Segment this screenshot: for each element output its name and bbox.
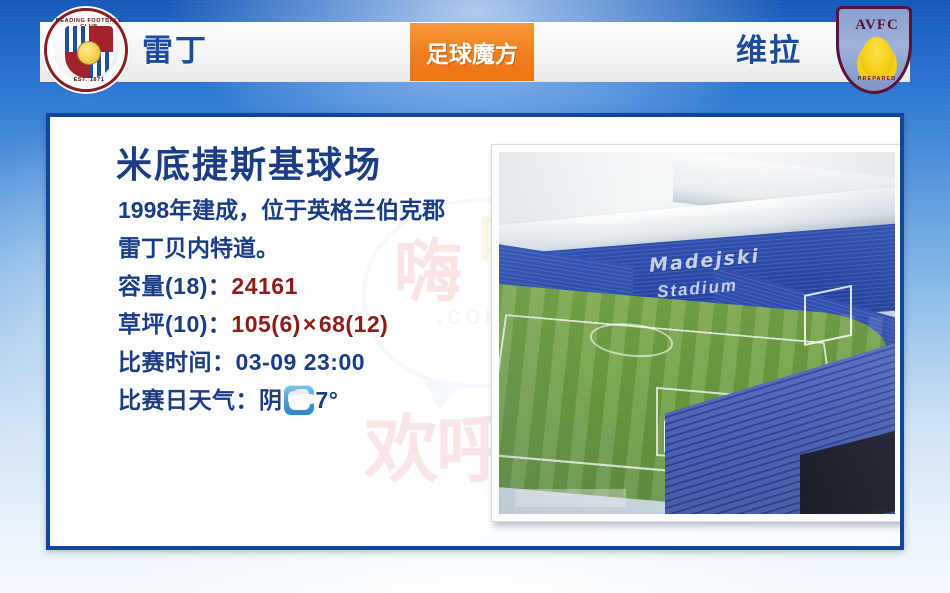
match-time-row: 比赛时间： 03-09 23:00 [118,343,512,381]
crest-motto: PREPARED [839,76,912,82]
away-team-crest: AVFC PREPARED [836,6,912,94]
crest-shield-shape: AVFC PREPARED [836,6,912,94]
weather-condition: 阴 [259,381,283,419]
crest-center-disc [77,41,101,65]
weather-label: 比赛日天气： [118,381,259,419]
capacity-value: 24161 [231,267,297,305]
site-logo[interactable]: 足球魔方 [410,23,534,81]
pitch-multiply-symbol: × [301,305,319,343]
stadium-info-panel: 吧 嗨 .com 欢呼 米底捷斯基球场 1998年建成，位于英格兰伯克郡 雷丁贝… [46,113,904,550]
match-time-label: 比赛时间： [118,343,236,381]
weather-temperature: 7° [316,381,339,419]
away-team-name: 维拉 [736,28,802,74]
stadium-photo-frame: Madejski Stadium [491,144,900,522]
stadium-description-line-1: 1998年建成，位于英格兰伯克郡 [118,191,512,229]
site-logo-text: 足球魔方 [426,35,518,69]
stadium-description-line-2: 雷丁贝内特道。 [118,229,512,267]
capacity-row: 容量(18)： 24161 [118,267,512,305]
pitch-row: 草坪(10)： 105(6) × 68(12) [118,305,512,343]
home-team-name: 雷丁 [142,28,208,74]
pitch-label: 草坪(10)： [118,305,231,343]
panel-inner: 吧 嗨 .com 欢呼 米底捷斯基球场 1998年建成，位于英格兰伯克郡 雷丁贝… [50,117,900,546]
weather-row: 比赛日天气： 阴 7° [118,381,512,419]
pitch-length: 105(6) [231,305,300,343]
crest-initials: AVFC [839,17,912,34]
pitch-width: 68(12) [319,305,388,343]
lion-icon [861,37,893,77]
match-time-value: 03-09 23:00 [236,343,366,381]
stadium-photo: Madejski Stadium [499,152,895,514]
crest-arc-bottom-text: EST. 1871 [47,77,131,83]
home-team-crest: READING FOOTBALL CLUB EST. 1871 [44,8,128,92]
stadium-info-text: 米底捷斯基球场 1998年建成，位于英格兰伯克郡 雷丁贝内特道。 容量(18)：… [72,139,512,419]
cloudy-icon [284,385,314,415]
stadium-title: 米底捷斯基球场 [116,139,512,191]
capacity-label: 容量(18)： [118,267,231,305]
match-header: READING FOOTBALL CLUB EST. 1871 雷丁 足球魔方 … [0,0,950,100]
